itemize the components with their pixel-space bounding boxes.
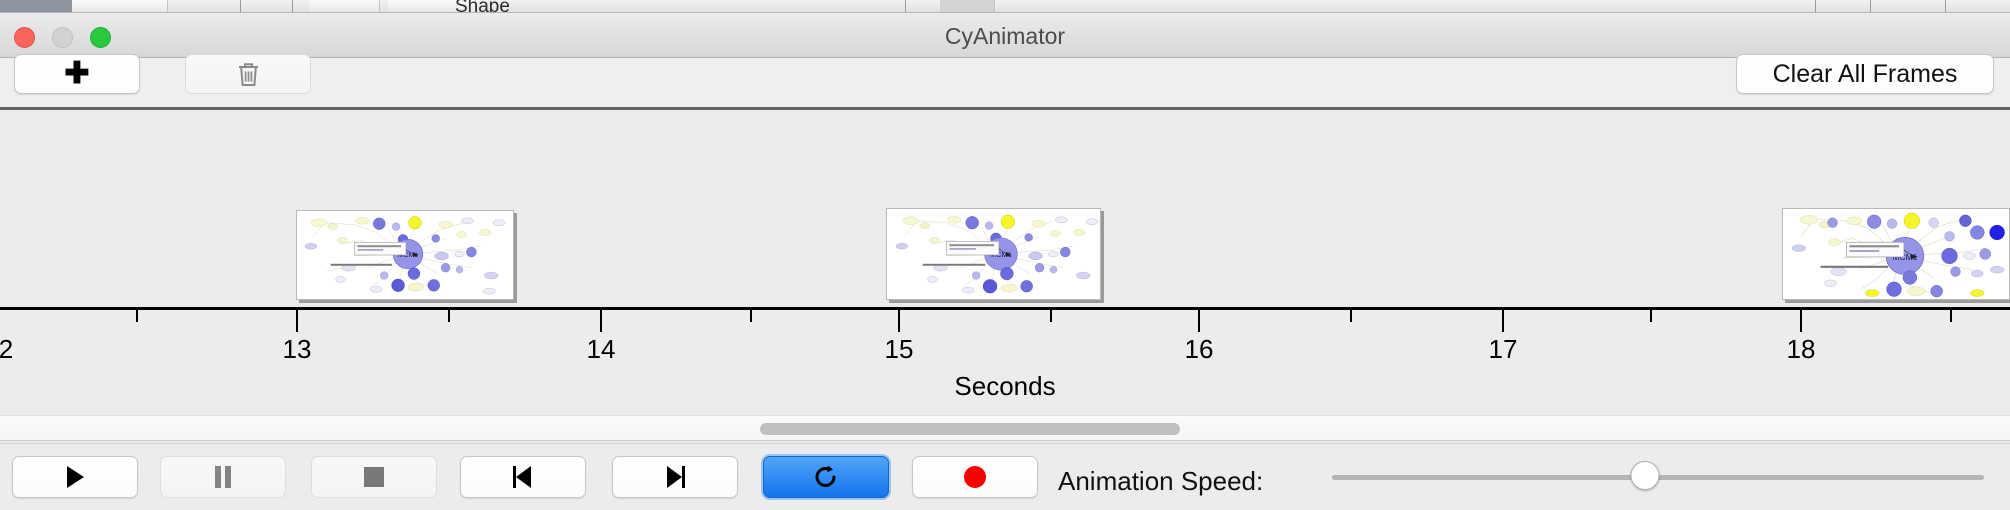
add-frame-button[interactable]: ✚ <box>14 54 140 94</box>
window-title: CyAnimator <box>0 23 2010 50</box>
axis-major-tick <box>898 310 900 332</box>
axis-major-tick <box>1502 310 1504 332</box>
trash-icon <box>237 61 260 87</box>
network-thumbnail-image: MCM1 <box>1783 209 2009 299</box>
scrollbar-thumb[interactable] <box>760 423 1180 435</box>
stop-button[interactable] <box>311 456 437 498</box>
axis-tick-label: 17 <box>1489 334 1518 365</box>
timeline-horizontal-scrollbar[interactable] <box>0 415 2010 441</box>
frame-thumbnail-2[interactable]: MCM1 <box>886 208 1101 300</box>
record-button[interactable] <box>912 456 1038 498</box>
background-divider-icon <box>905 0 906 13</box>
axis-minor-tick <box>1350 310 1352 322</box>
play-icon <box>64 465 86 489</box>
background-tab <box>72 0 168 13</box>
background-divider-icon <box>1815 0 1816 13</box>
background-tab <box>310 0 380 13</box>
skip-to-start-button[interactable] <box>460 456 586 498</box>
network-thumbnail-image: MCM1 <box>887 209 1100 299</box>
axis-minor-tick <box>1050 310 1052 322</box>
axis-major-tick <box>600 310 602 332</box>
frame-thumbnail-1[interactable]: MCM1 <box>296 210 514 300</box>
cyanimator-window: Shape CyAnimator ✚ Clear All Frames <box>0 0 2010 510</box>
title-bar[interactable]: CyAnimator <box>0 13 2010 58</box>
playback-control-bar: Animation Speed: <box>0 443 2010 510</box>
axis-tick-label: 18 <box>1787 334 1816 365</box>
animation-speed-label: Animation Speed: <box>1058 466 1263 497</box>
background-tab <box>940 0 995 13</box>
skip-forward-icon <box>664 465 686 489</box>
background-divider-icon <box>1870 0 1871 13</box>
pause-button[interactable] <box>160 456 286 498</box>
axis-major-tick <box>1800 310 1802 332</box>
plus-icon: ✚ <box>64 59 89 89</box>
background-divider-icon <box>240 0 241 13</box>
clear-all-frames-button[interactable]: Clear All Frames <box>1736 54 1994 94</box>
axis-tick-label: 2 <box>0 334 13 365</box>
animation-speed-slider[interactable] <box>1332 473 1984 481</box>
background-divider-icon <box>292 0 293 13</box>
network-thumbnail-image: MCM1 <box>297 211 513 299</box>
timeline-axis[interactable]: 2 13 14 15 16 17 18 <box>0 307 2010 367</box>
pause-icon <box>213 465 233 489</box>
frame-thumbnail-3[interactable]: MCM1 <box>1782 208 2010 300</box>
background-selected-tab <box>0 0 72 13</box>
axis-tick-label: 15 <box>885 334 914 365</box>
axis-title: Seconds <box>0 371 2010 402</box>
axis-major-tick <box>1198 310 1200 332</box>
axis-minor-tick <box>448 310 450 322</box>
clear-all-frames-label: Clear All Frames <box>1773 60 1958 89</box>
axis-major-tick <box>296 310 298 332</box>
axis-minor-tick <box>1950 310 1952 322</box>
record-icon <box>963 465 987 489</box>
axis-tick-label: 16 <box>1185 334 1214 365</box>
background-window-strip: Shape <box>0 0 2010 13</box>
axis-minor-tick <box>136 310 138 322</box>
axis-tick-label: 13 <box>283 334 312 365</box>
axis-tick-label: 14 <box>587 334 616 365</box>
skip-to-end-button[interactable] <box>612 456 738 498</box>
slider-thumb[interactable] <box>1631 461 1660 490</box>
axis-minor-tick <box>1650 310 1652 322</box>
axis-minor-tick <box>750 310 752 322</box>
skip-back-icon <box>512 465 534 489</box>
loop-button[interactable] <box>763 456 889 498</box>
delete-frame-button[interactable] <box>185 54 311 94</box>
stop-icon <box>363 466 385 488</box>
frame-track[interactable]: MCM1 <box>0 113 2010 308</box>
axis-line <box>0 307 2010 310</box>
play-button[interactable] <box>12 456 138 498</box>
loop-icon <box>813 464 839 490</box>
background-window-label: Shape <box>455 0 510 13</box>
background-divider-icon <box>1945 0 1946 13</box>
